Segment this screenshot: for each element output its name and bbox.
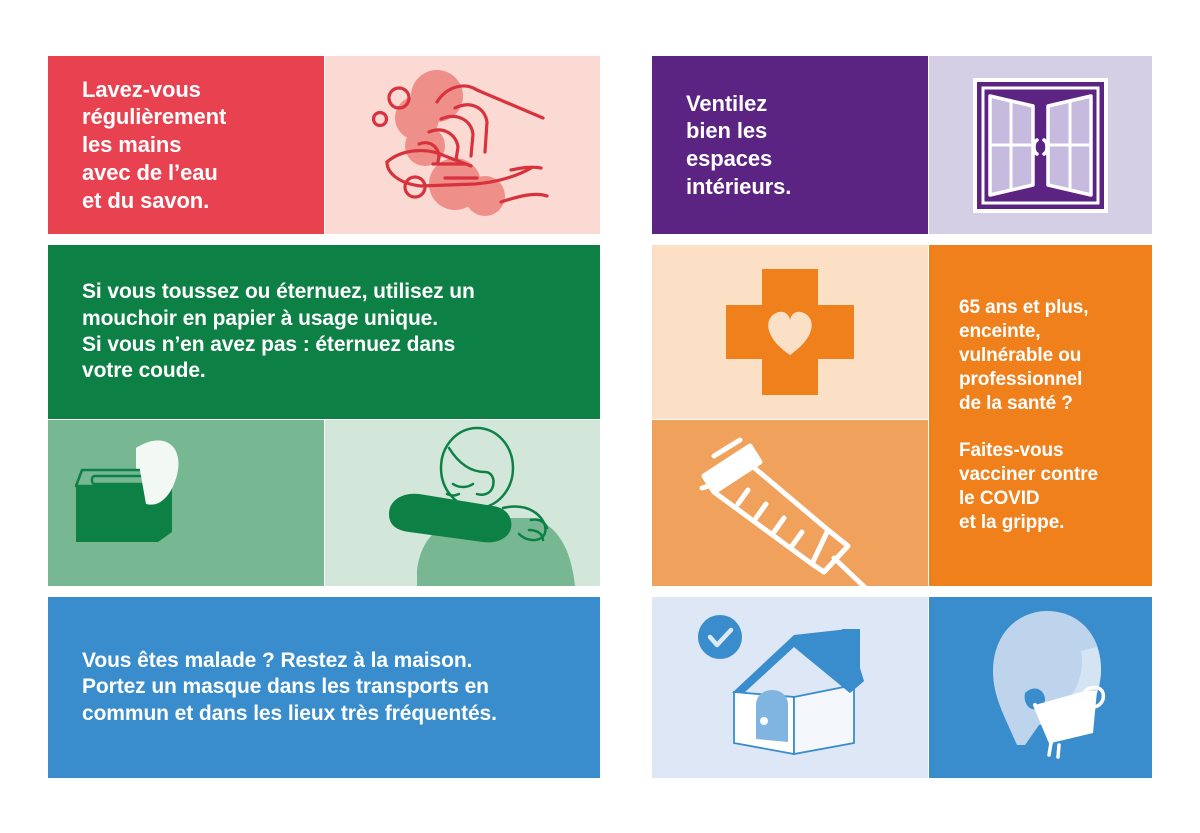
panel-sneeze-elbow-illustration [325, 420, 600, 586]
tissue-box-icon [48, 420, 324, 586]
panel-tissue-text: Si vous toussez ou éternuez, utilisez un… [48, 245, 600, 419]
panel-syringe-illustration [652, 420, 928, 586]
panel-vaccination-text: 65 ans et plus, enceinte, vulnérable ou … [929, 245, 1152, 586]
washing-hands-icon [325, 56, 600, 234]
panel-house-illustration [652, 597, 928, 778]
panel-stay-home-text: Vous êtes malade ? Restez à la maison. P… [48, 597, 600, 778]
house-check-icon [652, 597, 928, 778]
sneeze-into-elbow-icon [325, 420, 600, 586]
tissue-label: Si vous toussez ou éternuez, utilisez un… [48, 279, 475, 385]
panel-ventilate-illustration [929, 56, 1152, 234]
panel-ventilate-text: Ventilez bien les espaces intérieurs. [652, 56, 928, 234]
syringe-icon [652, 420, 928, 586]
wash-hands-label: Lavez-vous régulièrement les mains avec … [48, 76, 226, 215]
open-window-icon [929, 56, 1152, 234]
panel-medical-cross-illustration [652, 245, 928, 419]
panel-face-mask-illustration [929, 597, 1152, 778]
ventilate-label: Ventilez bien les espaces intérieurs. [652, 90, 791, 201]
panel-wash-hands-text: Lavez-vous régulièrement les mains avec … [48, 56, 324, 234]
panel-wash-hands-illustration [325, 56, 600, 234]
vaccination-label: 65 ans et plus, enceinte, vulnérable ou … [929, 296, 1098, 535]
stay-home-label: Vous êtes malade ? Restez à la maison. P… [48, 648, 497, 727]
infographic-poster: Lavez-vous régulièrement les mains avec … [48, 56, 1152, 778]
medical-cross-heart-icon [652, 245, 928, 419]
face-mask-icon [929, 597, 1152, 778]
panel-tissue-box-illustration [48, 420, 324, 586]
